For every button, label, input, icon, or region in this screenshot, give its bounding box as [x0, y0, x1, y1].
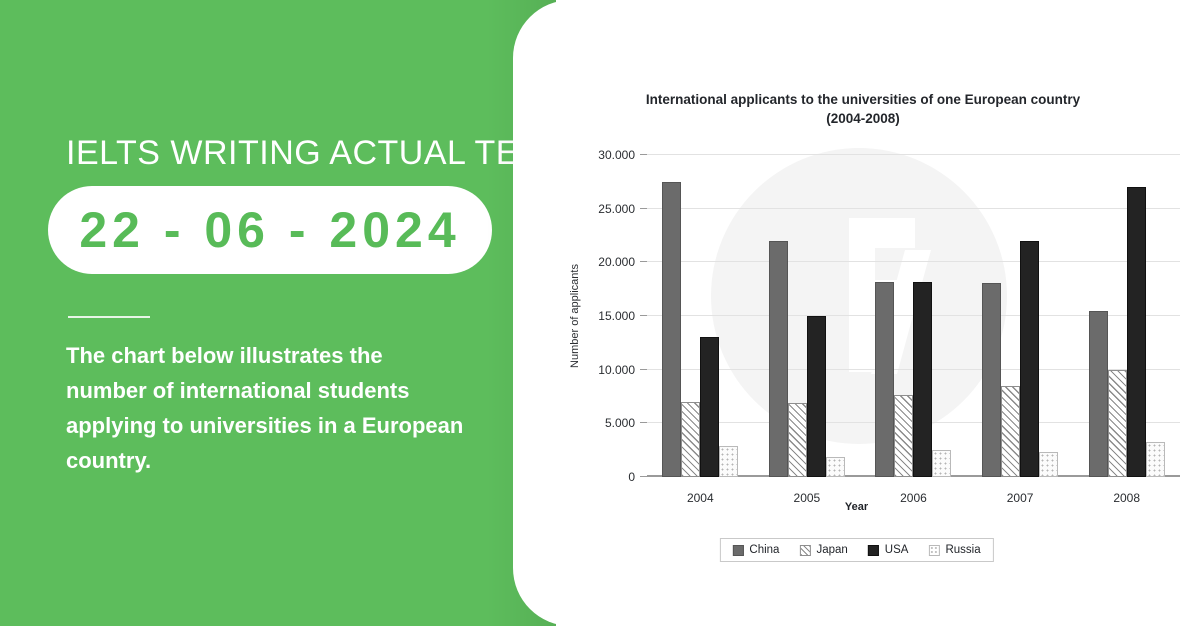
- legend-label: Japan: [816, 544, 847, 556]
- legend-label: Russia: [945, 544, 980, 556]
- bar-usa-2007[interactable]: [1020, 241, 1039, 477]
- x-axis-tick-label: 2005: [794, 491, 821, 505]
- y-axis-tick-label: 5.000: [605, 416, 635, 430]
- legend-item-japan[interactable]: Japan: [799, 544, 847, 556]
- legend-swatch-usa-icon: [868, 545, 879, 556]
- legend-item-china[interactable]: China: [732, 544, 779, 556]
- promo-green-panel: IELTS WRITING ACTUAL TEST 22 - 06 - 2024…: [0, 0, 556, 626]
- divider-rule: [68, 316, 150, 318]
- promo-card-root: IELTS WRITING ACTUAL TEST 22 - 06 - 2024…: [0, 0, 1200, 626]
- y-axis-label: Number of applicants: [569, 264, 581, 368]
- bar-china-2008[interactable]: [1089, 311, 1108, 477]
- bar-russia-2008[interactable]: [1146, 442, 1165, 477]
- chart-title: International applicants to the universi…: [633, 90, 1093, 128]
- bar-china-2007[interactable]: [982, 283, 1001, 477]
- bar-usa-2005[interactable]: [807, 316, 826, 477]
- bar-russia-2005[interactable]: [826, 457, 845, 477]
- bar-japan-2008[interactable]: [1108, 370, 1127, 477]
- bar-group-2007: 2007: [967, 155, 1074, 477]
- y-axis-tick: [640, 422, 647, 423]
- bar-russia-2007[interactable]: [1039, 452, 1058, 477]
- x-axis-tick-label: 2004: [687, 491, 714, 505]
- y-axis-tick-label: 15.000: [598, 309, 635, 323]
- y-axis-tick: [640, 315, 647, 316]
- bar-usa-2008[interactable]: [1127, 187, 1146, 477]
- legend-swatch-china-icon: [732, 545, 743, 556]
- bar-group-2006: 2006: [860, 155, 967, 477]
- bar-china-2004[interactable]: [662, 182, 681, 477]
- legend-swatch-japan-icon: [799, 545, 810, 556]
- bar-japan-2004[interactable]: [681, 402, 700, 477]
- y-axis-tick-label: 10.000: [598, 363, 635, 377]
- bar-china-2005[interactable]: [769, 241, 788, 477]
- chart-card: International applicants to the universi…: [513, 0, 1200, 626]
- y-axis-tick: [640, 154, 647, 155]
- bar-japan-2005[interactable]: [788, 403, 807, 477]
- bar-groups: 20042005200620072008: [647, 155, 1180, 477]
- promo-headline: IELTS WRITING ACTUAL TEST: [66, 134, 563, 173]
- x-axis-tick-label: 2007: [1007, 491, 1034, 505]
- x-axis-label: Year: [845, 501, 868, 513]
- bar-usa-2004[interactable]: [700, 337, 719, 477]
- bar-group-2005: 2005: [754, 155, 861, 477]
- legend-label: China: [749, 544, 779, 556]
- legend-swatch-russia-icon: [928, 545, 939, 556]
- y-axis-tick: [640, 208, 647, 209]
- chart-legend: ChinaJapanUSARussia: [719, 538, 993, 562]
- bar-usa-2006[interactable]: [913, 282, 932, 477]
- y-axis-tick: [640, 369, 647, 370]
- y-axis-tick-label: 0: [628, 470, 635, 484]
- legend-label: USA: [885, 544, 909, 556]
- bar-russia-2004[interactable]: [719, 446, 738, 477]
- legend-item-usa[interactable]: USA: [868, 544, 909, 556]
- y-axis-tick: [640, 261, 647, 262]
- promo-date-pill: 22 - 06 - 2024: [48, 186, 492, 274]
- y-axis-tick-label: 20.000: [598, 255, 635, 269]
- bar-russia-2006[interactable]: [932, 450, 951, 477]
- y-axis-tick-label: 30.000: [598, 148, 635, 162]
- y-axis-tick-label: 25.000: [598, 202, 635, 216]
- bar-chart: International applicants to the universi…: [513, 0, 1200, 626]
- promo-description: The chart below illustrates the number o…: [66, 338, 466, 478]
- bar-china-2006[interactable]: [875, 282, 894, 477]
- bar-group-2008: 2008: [1073, 155, 1180, 477]
- legend-item-russia[interactable]: Russia: [928, 544, 980, 556]
- plot-area: 05.00010.00015.00020.00025.00030.000 200…: [647, 155, 1180, 477]
- x-axis-tick-label: 2008: [1113, 491, 1140, 505]
- promo-date-text: 22 - 06 - 2024: [79, 201, 460, 259]
- bar-group-2004: 2004: [647, 155, 754, 477]
- bar-japan-2007[interactable]: [1001, 386, 1020, 477]
- bar-japan-2006[interactable]: [894, 395, 913, 477]
- x-axis-tick-label: 2006: [900, 491, 927, 505]
- y-axis-tick: [640, 476, 647, 477]
